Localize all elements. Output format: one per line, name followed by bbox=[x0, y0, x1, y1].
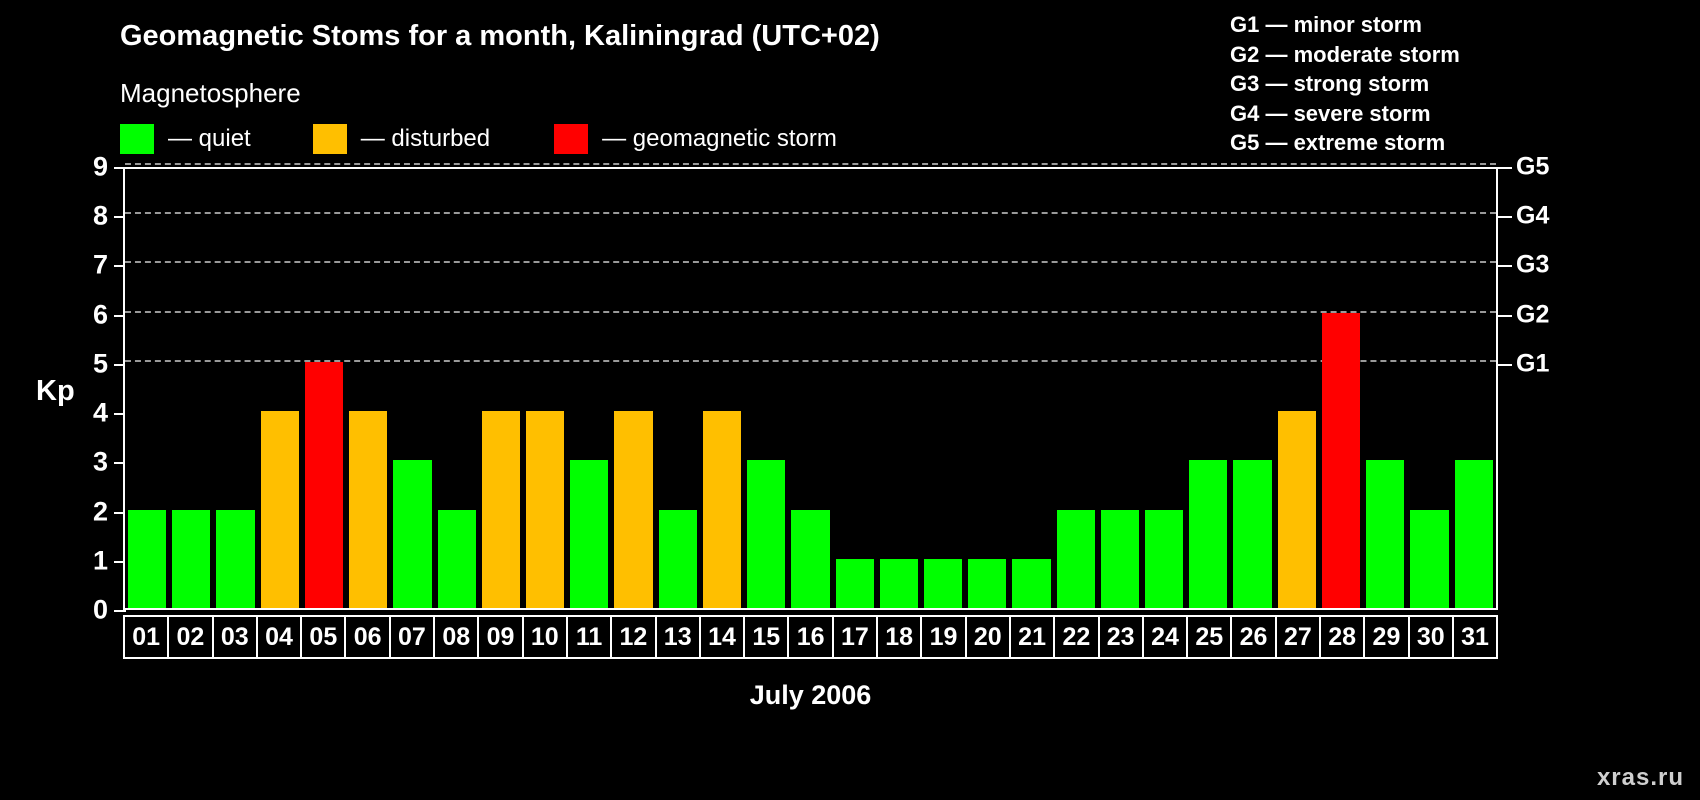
legend-item-label: — disturbed bbox=[361, 125, 490, 153]
bar[interactable] bbox=[791, 510, 829, 608]
bar-slot[interactable] bbox=[1230, 169, 1274, 608]
bar-slot[interactable] bbox=[611, 169, 655, 608]
bar-slot[interactable] bbox=[435, 169, 479, 608]
bar[interactable] bbox=[1455, 460, 1493, 608]
legend-heading: Magnetosphere bbox=[120, 78, 301, 109]
bar[interactable] bbox=[614, 411, 652, 608]
g-tick-label: G5 bbox=[1516, 155, 1549, 180]
bar[interactable] bbox=[393, 460, 431, 608]
g-tick-mark bbox=[1498, 364, 1512, 366]
y-tick-label: 0 bbox=[93, 597, 108, 624]
x-tick-label[interactable]: 31 bbox=[1454, 617, 1496, 657]
legend: — quiet — disturbed — geomagnetic storm bbox=[120, 122, 837, 156]
bar[interactable] bbox=[1366, 460, 1404, 608]
bar-slot[interactable] bbox=[523, 169, 567, 608]
bar[interactable] bbox=[1322, 313, 1360, 608]
bar-slot[interactable] bbox=[1319, 169, 1363, 608]
x-axis-day-labels: 0102030405060708091011121314151617181920… bbox=[123, 615, 1498, 659]
x-tick-label[interactable]: 26 bbox=[1232, 617, 1276, 657]
bar[interactable] bbox=[438, 510, 476, 608]
g-tick-label: G3 bbox=[1516, 253, 1549, 278]
bar[interactable] bbox=[305, 362, 343, 608]
x-tick-label[interactable]: 24 bbox=[1144, 617, 1188, 657]
bar[interactable] bbox=[924, 559, 962, 608]
bar[interactable] bbox=[261, 411, 299, 608]
legend-item-label: — quiet bbox=[168, 125, 251, 153]
g-tick-label: G1 bbox=[1516, 351, 1549, 376]
g-tick-mark bbox=[1498, 216, 1512, 218]
g-scale-key-line: G1 — minor storm bbox=[1230, 10, 1460, 40]
g-scale-key: G1 — minor storm G2 — moderate storm G3 … bbox=[1230, 10, 1460, 158]
g-scale-key-line: G3 — strong storm bbox=[1230, 69, 1460, 99]
x-tick-label[interactable]: 23 bbox=[1100, 617, 1144, 657]
x-tick-label[interactable]: 03 bbox=[214, 617, 258, 657]
bar-slot[interactable] bbox=[479, 169, 523, 608]
bar[interactable] bbox=[659, 510, 697, 608]
bar[interactable] bbox=[836, 559, 874, 608]
g-scale-key-line: G2 — moderate storm bbox=[1230, 40, 1460, 70]
y-tick-label: 4 bbox=[93, 400, 108, 427]
g-scale-axis: G1G2G3G4G5 bbox=[1516, 167, 1586, 610]
x-tick-label[interactable]: 18 bbox=[878, 617, 922, 657]
x-tick-label[interactable]: 14 bbox=[701, 617, 745, 657]
bar[interactable] bbox=[747, 460, 785, 608]
bar-slot[interactable] bbox=[1363, 169, 1407, 608]
bar-slot[interactable] bbox=[656, 169, 700, 608]
bar-slot[interactable] bbox=[346, 169, 390, 608]
y-tick-label: 6 bbox=[93, 301, 108, 328]
bar-slot[interactable] bbox=[877, 169, 921, 608]
y-tick-label: 8 bbox=[93, 203, 108, 230]
y-tick-label: 3 bbox=[93, 449, 108, 476]
bar[interactable] bbox=[482, 411, 520, 608]
bar[interactable] bbox=[128, 510, 166, 608]
y-tick-mark bbox=[114, 610, 126, 612]
bar[interactable] bbox=[216, 510, 254, 608]
bar[interactable] bbox=[1233, 460, 1271, 608]
bar-slot[interactable] bbox=[700, 169, 744, 608]
bar[interactable] bbox=[570, 460, 608, 608]
page-title: Geomagnetic Stoms for a month, Kaliningr… bbox=[120, 20, 880, 53]
bar-slot[interactable] bbox=[1407, 169, 1451, 608]
bar-slot[interactable] bbox=[567, 169, 611, 608]
bar-slot[interactable] bbox=[213, 169, 257, 608]
x-tick-label[interactable]: 19 bbox=[922, 617, 966, 657]
g-tick-label: G2 bbox=[1516, 302, 1549, 327]
bar[interactable] bbox=[703, 411, 741, 608]
bar-slot[interactable] bbox=[125, 169, 169, 608]
x-tick-label[interactable]: 06 bbox=[346, 617, 390, 657]
bar[interactable] bbox=[1189, 460, 1227, 608]
x-tick-label[interactable]: 22 bbox=[1055, 617, 1099, 657]
bar[interactable] bbox=[172, 510, 210, 608]
g-tick-mark bbox=[1498, 265, 1512, 267]
x-tick-label[interactable]: 10 bbox=[524, 617, 568, 657]
bar-slot[interactable] bbox=[1452, 169, 1496, 608]
bar[interactable] bbox=[526, 411, 564, 608]
x-tick-label[interactable]: 04 bbox=[258, 617, 302, 657]
green-swatch-icon bbox=[120, 124, 154, 154]
bar[interactable] bbox=[1012, 559, 1050, 608]
bar-slot[interactable] bbox=[1098, 169, 1142, 608]
bars-layer bbox=[125, 169, 1496, 608]
x-tick-label[interactable]: 27 bbox=[1277, 617, 1321, 657]
bar[interactable] bbox=[1057, 510, 1095, 608]
bar-slot[interactable] bbox=[302, 169, 346, 608]
y-tick-label: 5 bbox=[93, 350, 108, 377]
bar-slot[interactable] bbox=[258, 169, 302, 608]
x-tick-label[interactable]: 07 bbox=[391, 617, 435, 657]
g-scale-key-line: G4 — severe storm bbox=[1230, 99, 1460, 129]
bar[interactable] bbox=[349, 411, 387, 608]
x-tick-label[interactable]: 30 bbox=[1410, 617, 1454, 657]
x-tick-label[interactable]: 28 bbox=[1321, 617, 1365, 657]
bar-slot[interactable] bbox=[1009, 169, 1053, 608]
legend-item-quiet: — quiet bbox=[120, 122, 251, 156]
x-tick-label[interactable]: 16 bbox=[789, 617, 833, 657]
x-tick-label[interactable]: 13 bbox=[657, 617, 701, 657]
x-tick-label[interactable]: 15 bbox=[745, 617, 789, 657]
x-tick-label[interactable]: 29 bbox=[1365, 617, 1409, 657]
x-tick-label[interactable]: 20 bbox=[967, 617, 1011, 657]
legend-item-label: — geomagnetic storm bbox=[602, 125, 837, 153]
y-tick-label: 7 bbox=[93, 252, 108, 279]
bar[interactable] bbox=[1410, 510, 1448, 608]
bar-slot[interactable] bbox=[169, 169, 213, 608]
legend-item-storm: — geomagnetic storm bbox=[554, 122, 837, 156]
y-tick-label: 2 bbox=[93, 498, 108, 525]
x-tick-label[interactable]: 09 bbox=[479, 617, 523, 657]
x-tick-label[interactable]: 11 bbox=[568, 617, 612, 657]
x-tick-label[interactable]: 02 bbox=[169, 617, 213, 657]
g-scale-key-line: G5 — extreme storm bbox=[1230, 128, 1460, 158]
x-tick-label[interactable]: 21 bbox=[1011, 617, 1055, 657]
x-tick-label[interactable]: 12 bbox=[612, 617, 656, 657]
g-tick-mark bbox=[1498, 167, 1512, 169]
y-tick-label: 1 bbox=[93, 547, 108, 574]
x-tick-label[interactable]: 08 bbox=[435, 617, 479, 657]
bar[interactable] bbox=[1145, 510, 1183, 608]
bar[interactable] bbox=[1101, 510, 1139, 608]
plot-inner bbox=[125, 169, 1496, 608]
x-tick-label[interactable]: 05 bbox=[302, 617, 346, 657]
bar-slot[interactable] bbox=[788, 169, 832, 608]
bar-slot[interactable] bbox=[1054, 169, 1098, 608]
watermark: xras.ru bbox=[1597, 764, 1684, 792]
gridline bbox=[125, 163, 1496, 165]
bar-slot[interactable] bbox=[1275, 169, 1319, 608]
bar-slot[interactable] bbox=[390, 169, 434, 608]
bar[interactable] bbox=[880, 559, 918, 608]
x-axis-title: July 2006 bbox=[123, 680, 1498, 711]
g-tick-label: G4 bbox=[1516, 204, 1549, 229]
y-tick-label: 9 bbox=[93, 154, 108, 181]
bar-slot[interactable] bbox=[833, 169, 877, 608]
y-axis: 0123456789 bbox=[60, 167, 108, 610]
bar-slot[interactable] bbox=[921, 169, 965, 608]
x-tick-label[interactable]: 17 bbox=[834, 617, 878, 657]
bar-slot[interactable] bbox=[965, 169, 1009, 608]
legend-item-disturbed: — disturbed bbox=[313, 122, 490, 156]
bar-slot[interactable] bbox=[744, 169, 788, 608]
x-tick-label[interactable]: 01 bbox=[125, 617, 169, 657]
x-tick-label[interactable]: 25 bbox=[1188, 617, 1232, 657]
bar-slot[interactable] bbox=[1142, 169, 1186, 608]
bar[interactable] bbox=[968, 559, 1006, 608]
bar-slot[interactable] bbox=[1186, 169, 1230, 608]
bar[interactable] bbox=[1278, 411, 1316, 608]
plot-area bbox=[123, 167, 1498, 610]
g-tick-mark bbox=[1498, 315, 1512, 317]
orange-swatch-icon bbox=[313, 124, 347, 154]
red-swatch-icon bbox=[554, 124, 588, 154]
